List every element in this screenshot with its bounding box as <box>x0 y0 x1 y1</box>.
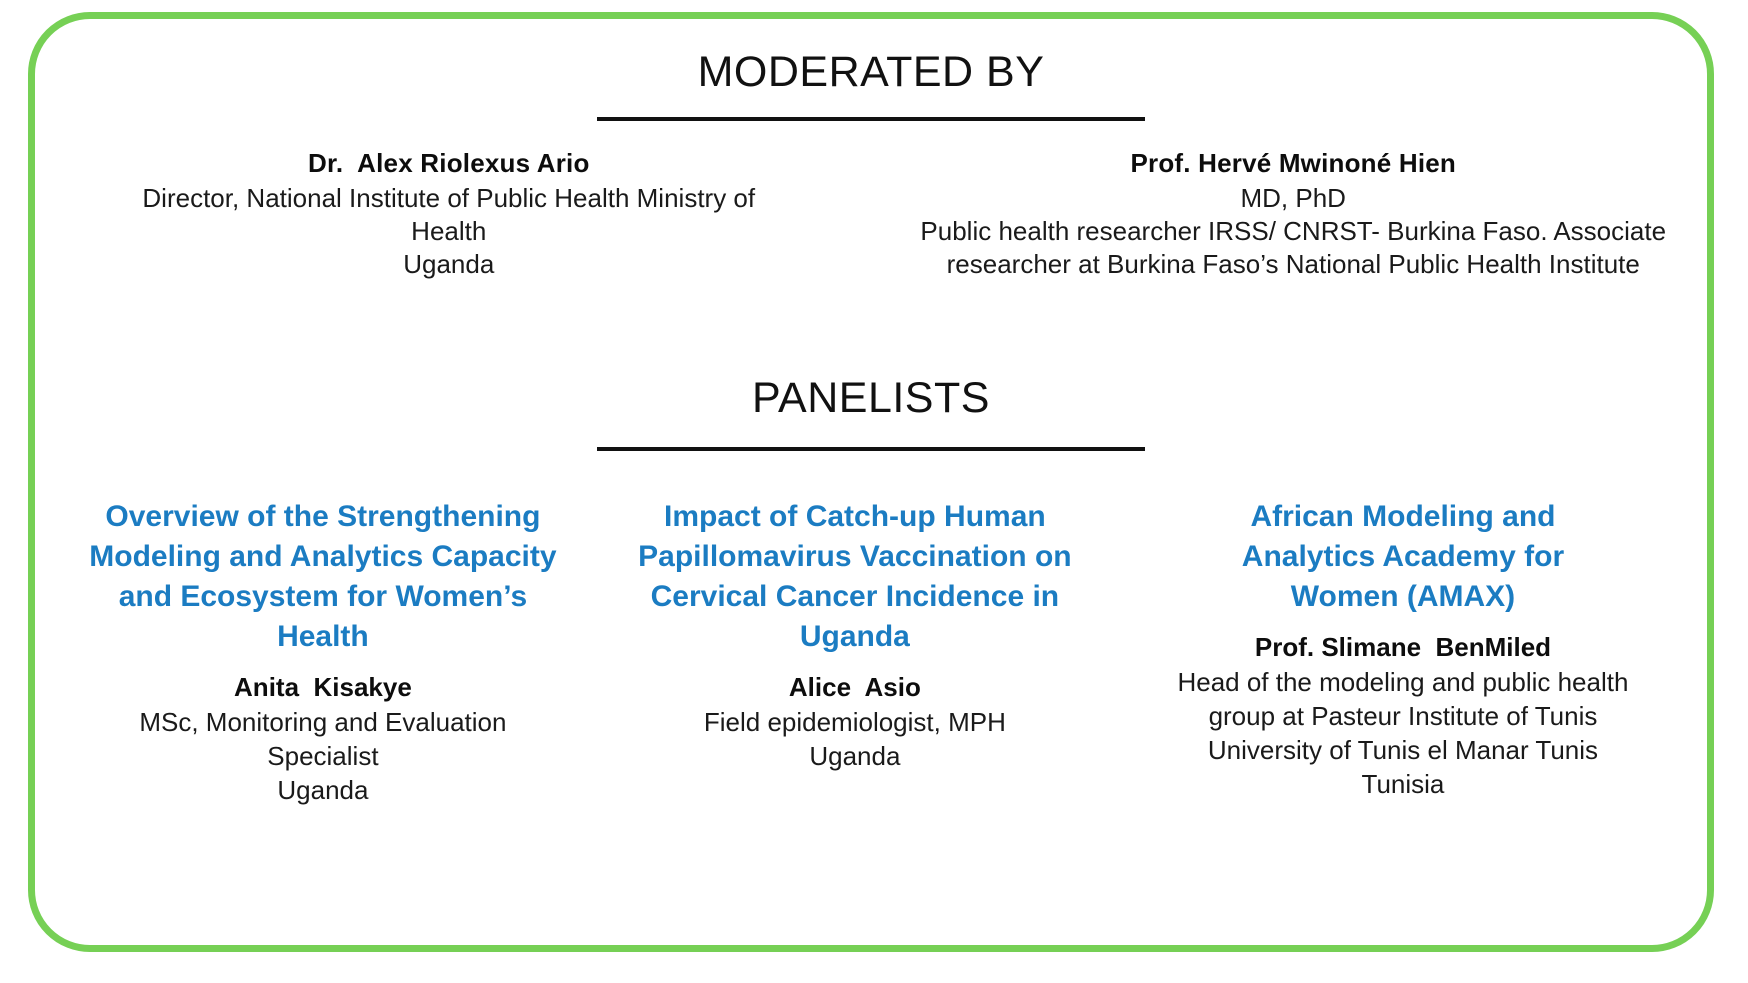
panelist-1-line-2: Specialist <box>65 740 581 774</box>
panelist-card-1: Overview of the Strengthening Modeling a… <box>65 497 581 808</box>
moderator-1-line-3: Uganda <box>59 248 839 281</box>
panelists-heading: PANELISTS <box>35 375 1707 422</box>
moderator-2-line-1: MD, PhD <box>903 182 1683 215</box>
moderator-1-name: Dr. Alex Riolexus Ario <box>59 147 839 180</box>
panelist-2-line-1: Field epidemiologist, MPH <box>613 706 1097 740</box>
panelist-2-line-2: Uganda <box>613 740 1097 774</box>
panelist-3-line-4: Tunisia <box>1129 768 1677 802</box>
slide-frame: MODERATED BY Dr. Alex Riolexus Ario Dire… <box>28 12 1714 952</box>
moderator-card-1: Dr. Alex Riolexus Ario Director, Nationa… <box>59 147 839 281</box>
panelist-1-talk-title: Overview of the Strengthening Modeling a… <box>65 497 581 657</box>
moderator-card-2: Prof. Hervé Mwinoné Hien MD, PhD Public … <box>903 147 1683 281</box>
panelist-2-talk-title: Impact of Catch-up Human Papillomavirus … <box>613 497 1097 657</box>
panelist-3-name: Prof. Slimane BenMiled <box>1129 631 1677 665</box>
panelist-1-line-3: Uganda <box>65 774 581 808</box>
panelist-card-2: Impact of Catch-up Human Papillomavirus … <box>613 497 1097 774</box>
panelist-1-line-1: MSc, Monitoring and Evaluation <box>65 706 581 740</box>
moderator-2-name: Prof. Hervé Mwinoné Hien <box>903 147 1683 180</box>
moderator-2-line-3: researcher at Burkina Faso’s National Pu… <box>903 248 1683 281</box>
moderators-row: Dr. Alex Riolexus Ario Director, Nationa… <box>59 147 1683 281</box>
panelist-3-line-1: Head of the modeling and public health <box>1129 666 1677 700</box>
panelist-1-name: Anita Kisakye <box>65 671 581 705</box>
panelists-row: Overview of the Strengthening Modeling a… <box>65 497 1677 808</box>
moderator-1-line-2: Health <box>59 215 839 248</box>
panelist-3-line-2: group at Pasteur Institute of Tunis <box>1129 700 1677 734</box>
panelist-2-name: Alice Asio <box>613 671 1097 705</box>
moderated-divider <box>597 117 1145 121</box>
panelist-3-talk-title: African Modeling and Analytics Academy f… <box>1129 497 1677 617</box>
moderated-by-heading: MODERATED BY <box>35 49 1707 96</box>
moderator-1-line-1: Director, National Institute of Public H… <box>59 182 839 215</box>
panelist-card-3: African Modeling and Analytics Academy f… <box>1129 497 1677 802</box>
slide-content: MODERATED BY Dr. Alex Riolexus Ario Dire… <box>35 19 1707 945</box>
panelist-3-line-3: University of Tunis el Manar Tunis <box>1129 734 1677 768</box>
moderator-2-line-2: Public health researcher IRSS/ CNRST- Bu… <box>903 215 1683 248</box>
panelists-divider <box>597 447 1145 451</box>
